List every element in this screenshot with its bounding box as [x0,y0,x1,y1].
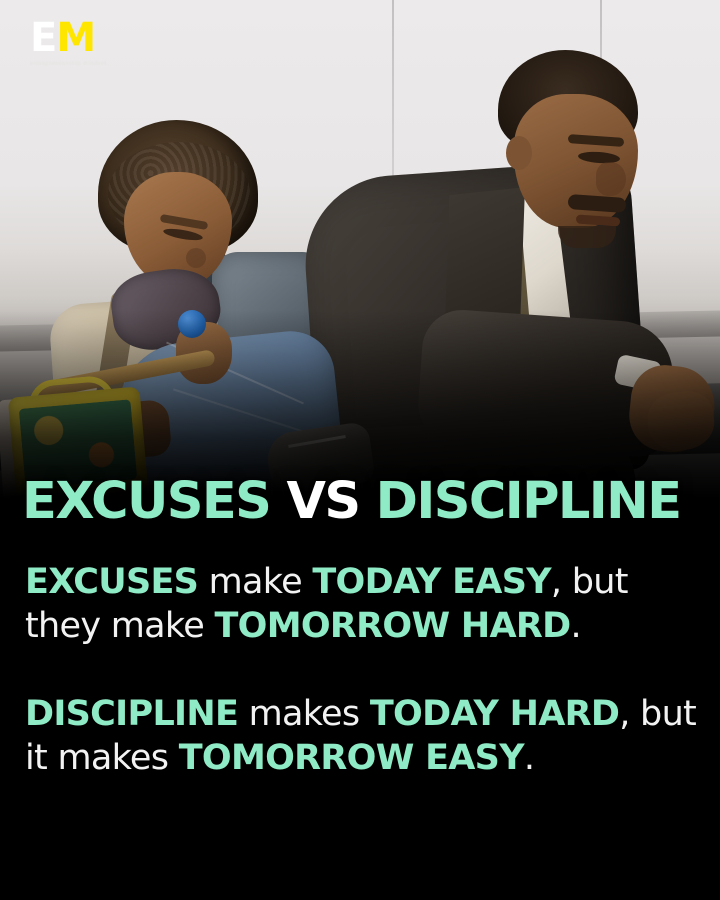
page-title: EXCUSES VS DISCIPLINE [22,476,712,527]
boy-nose [186,248,206,268]
logo-letter-m: M [56,15,95,61]
man-ear [506,136,532,170]
headline-part-two: DISCIPLINE [376,472,681,531]
p1-keyword-today-easy: TODAY EASY [312,562,551,602]
background-photo [0,0,720,540]
brand-logo[interactable]: EM entrepreneurship mindset [30,18,107,67]
p1-text-c: . [570,606,580,646]
p2-keyword-tomorrow-easy: TOMORROW EASY [179,738,524,778]
headline-separator: VS [286,472,359,531]
logo-wordmark: EM [30,18,107,58]
p1-keyword-tomorrow-hard: TOMORROW HARD [215,606,571,646]
p2-text-a: makes [238,694,370,734]
logo-letter-e: E [30,15,56,61]
paragraph-spacer [25,648,697,692]
man-beard [558,226,616,248]
paragraph-excuses: EXCUSES make TODAY EASY, but they make T… [25,560,697,648]
quote-poster: EM entrepreneurship mindset EXCUSES VS D… [0,0,720,900]
headline-part-one: EXCUSES [22,472,270,531]
man-nose [596,162,626,196]
p2-text-c: . [524,738,534,778]
p2-keyword-today-hard: TODAY HARD [370,694,619,734]
paragraph-discipline: DISCIPLINE makes TODAY HARD, but it make… [25,692,697,780]
quote-body: EXCUSES make TODAY EASY, but they make T… [25,560,697,780]
logo-subtitle: entrepreneurship mindset [30,61,107,67]
p2-keyword-discipline: DISCIPLINE [25,694,238,734]
p1-text-a: make [198,562,312,602]
p1-keyword-excuses: EXCUSES [25,562,198,602]
